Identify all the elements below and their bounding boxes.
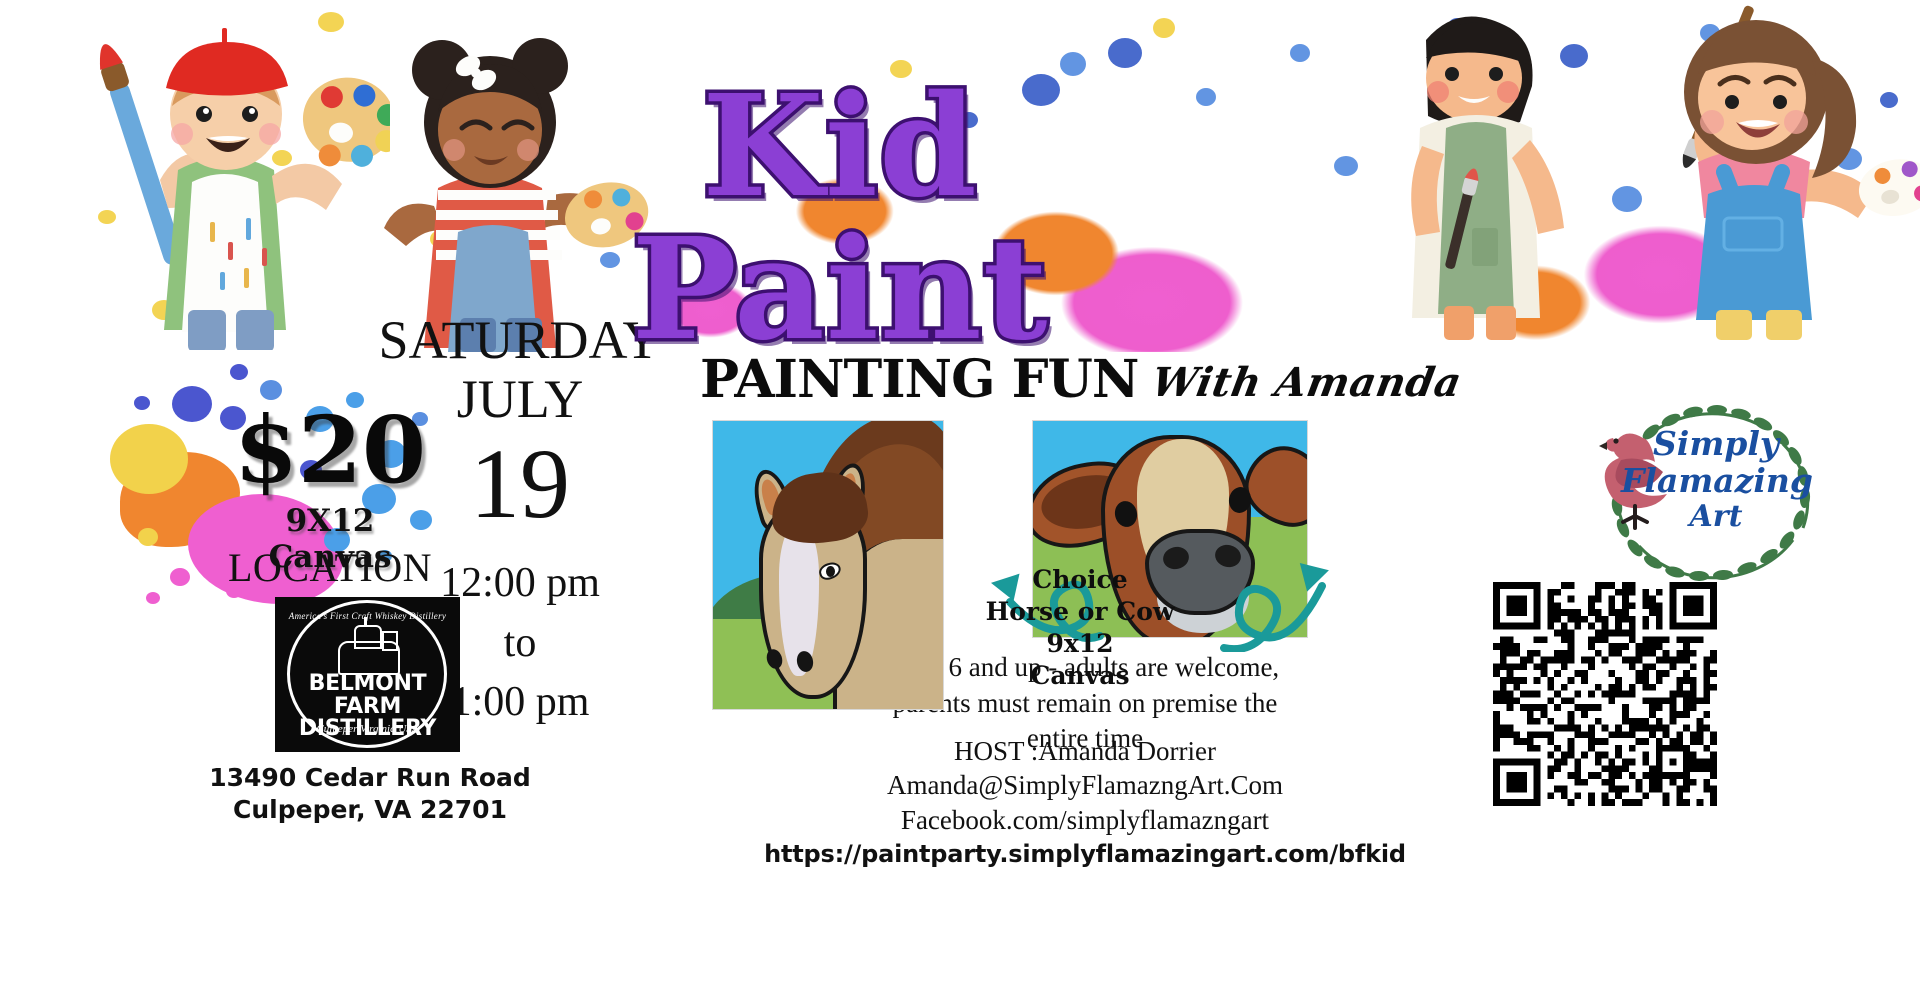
facebook-link[interactable]: Facebook.com/simplyflamazngart — [660, 803, 1510, 837]
choice-line4: Canvas — [920, 660, 1240, 692]
price-amount: $20 — [200, 404, 460, 496]
headline-script-text: With Amanda — [1149, 363, 1465, 406]
painting-fun-headline: PAINTING FUN With Amanda — [700, 354, 1461, 406]
logo-tagline: America's First Craft Whiskey Distillery — [275, 611, 460, 621]
kid-illustration-boy — [60, 10, 390, 350]
header-banner: Kid Paint Fun — [0, 0, 1920, 352]
logo-venue-sub: Culpeper Virginia USA — [275, 723, 460, 735]
flyer-body: $20 9X12 Canvas LOCATION America's First… — [0, 352, 1920, 1005]
qr-code-image[interactable] — [1493, 582, 1717, 806]
contact-block: HOST :Amanda Dorrier Amanda@SimplyFlamaz… — [660, 734, 1510, 869]
brand-line1: Simply — [1621, 426, 1811, 463]
choice-line1: Choice — [920, 564, 1240, 596]
venue-address: 13490 Cedar Run Road Culpeper, VA 22701 — [150, 762, 590, 826]
horse-painting — [712, 420, 944, 710]
headline-main-text: PAINTING FUN — [700, 354, 1138, 406]
venue-address-line2: Culpeper, VA 22701 — [233, 795, 507, 824]
flyer-title-line1: Kid Paint — [632, 65, 1049, 352]
host-email[interactable]: Amanda@SimplyFlamazngArt.Com — [660, 768, 1510, 802]
still-icon — [330, 623, 404, 671]
canvas-size-line1: 9X12 — [286, 503, 375, 539]
location-label: LOCATION — [170, 544, 490, 591]
choice-line2: Horse or Cow — [920, 596, 1240, 628]
brand-wordmark: Simply Flamazing Art — [1621, 426, 1811, 534]
belmont-farm-distillery-logo: America's First Craft Whiskey Distillery… — [275, 597, 460, 752]
choice-line3: 9x12 — [920, 628, 1240, 660]
qr-code[interactable] — [1493, 582, 1717, 806]
brand-line2: Flamazing — [1621, 463, 1811, 500]
registration-url[interactable]: https://paintparty.simplyflamazingart.co… — [660, 839, 1510, 869]
venue-address-line1: 13490 Cedar Run Road — [209, 763, 531, 792]
canvas-choice-text: Choice Horse or Cow 9x12 Canvas — [920, 564, 1240, 692]
kid-illustration-girl-ponytail — [1620, 4, 1920, 349]
logo-venue-name-line1: BELMONT FARM — [309, 671, 427, 719]
kid-illustration-apron — [1400, 0, 1650, 340]
simply-flamazing-art-logo: Simply Flamazing Art — [1597, 400, 1832, 585]
brand-line3: Art — [1621, 500, 1811, 534]
flyer-title: Kid Paint Fun — [500, 76, 1180, 352]
host-name: HOST :Amanda Dorrier — [660, 734, 1510, 768]
